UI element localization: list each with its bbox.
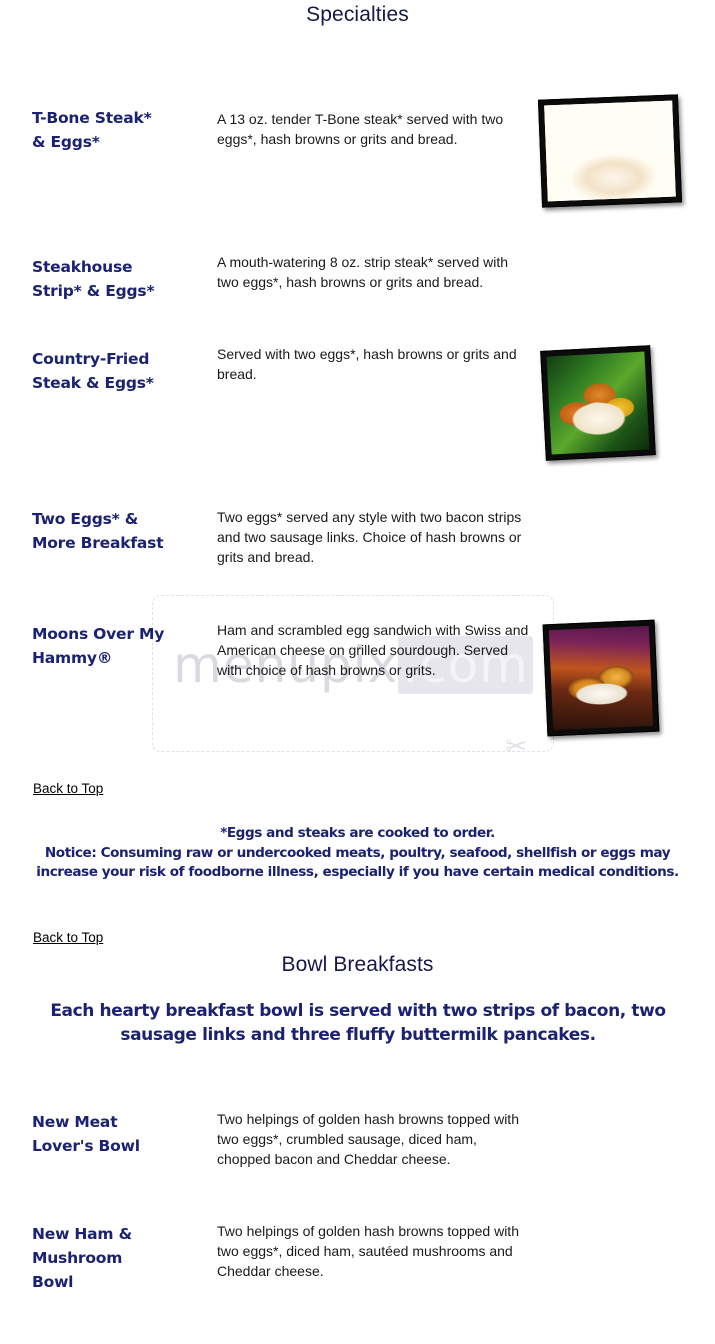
photo-image — [549, 626, 653, 730]
country-fried-steak-photo — [540, 345, 656, 461]
menu-item-description: Two helpings of golden hash browns toppe… — [217, 1222, 532, 1282]
menu-item-name: New Meat Lover's Bowl — [32, 1110, 212, 1158]
menu-item-description: A mouth-watering 8 oz. strip steak* serv… — [217, 253, 532, 293]
menu-page: Specialties T-Bone Steak* & Eggs* A 13 o… — [0, 0, 715, 1344]
back-to-top-link[interactable]: Back to Top — [33, 781, 103, 796]
menu-item-description: Two helpings of golden hash browns toppe… — [217, 1110, 532, 1170]
section-title-specialties: Specialties — [0, 3, 715, 27]
cooked-to-order-notice: *Eggs and steaks are cooked to order. No… — [22, 824, 693, 883]
bowl-breakfasts-intro: Each hearty breakfast bowl is served wit… — [33, 1000, 683, 1048]
menu-item-name: Steakhouse Strip* & Eggs* — [32, 255, 212, 303]
menu-item-name: T-Bone Steak* & Eggs* — [32, 106, 212, 154]
scissors-icon: ✂ — [505, 733, 527, 759]
menu-item-description: A 13 oz. tender T-Bone steak* served wit… — [217, 110, 532, 150]
moons-over-my-hammy-photo — [543, 620, 660, 737]
t-bone-steak-and-eggs-photo — [538, 94, 682, 207]
section-title-bowl-breakfasts: Bowl Breakfasts — [0, 953, 715, 977]
menu-item-description: Ham and scrambled egg sandwich with Swis… — [217, 621, 532, 681]
menu-item-description: Two eggs* served any style with two baco… — [217, 508, 532, 568]
back-to-top-link[interactable]: Back to Top — [33, 930, 103, 945]
menu-item-name: New Ham & Mushroom Bowl — [32, 1222, 212, 1294]
menu-item-name: Country-Fried Steak & Eggs* — [32, 347, 212, 395]
menu-item-name: Moons Over My Hammy® — [32, 622, 212, 670]
photo-image — [544, 101, 676, 202]
menu-item-name: Two Eggs* & More Breakfast — [32, 507, 212, 555]
photo-image — [547, 352, 650, 455]
menu-item-description: Served with two eggs*, hash browns or gr… — [217, 345, 532, 385]
